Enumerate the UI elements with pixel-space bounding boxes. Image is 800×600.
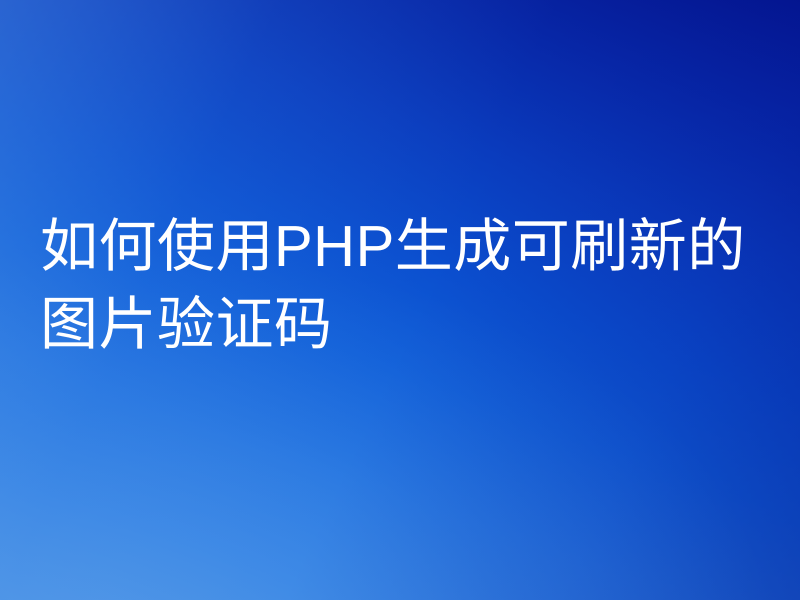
gradient-glow <box>0 0 800 600</box>
banner-card: 如何使用PHP生成可刷新的图片验证码 <box>0 0 800 600</box>
banner-title: 如何使用PHP生成可刷新的图片验证码 <box>40 208 776 364</box>
gradient-overlay <box>0 0 800 600</box>
title-container: 如何使用PHP生成可刷新的图片验证码 <box>40 208 776 364</box>
